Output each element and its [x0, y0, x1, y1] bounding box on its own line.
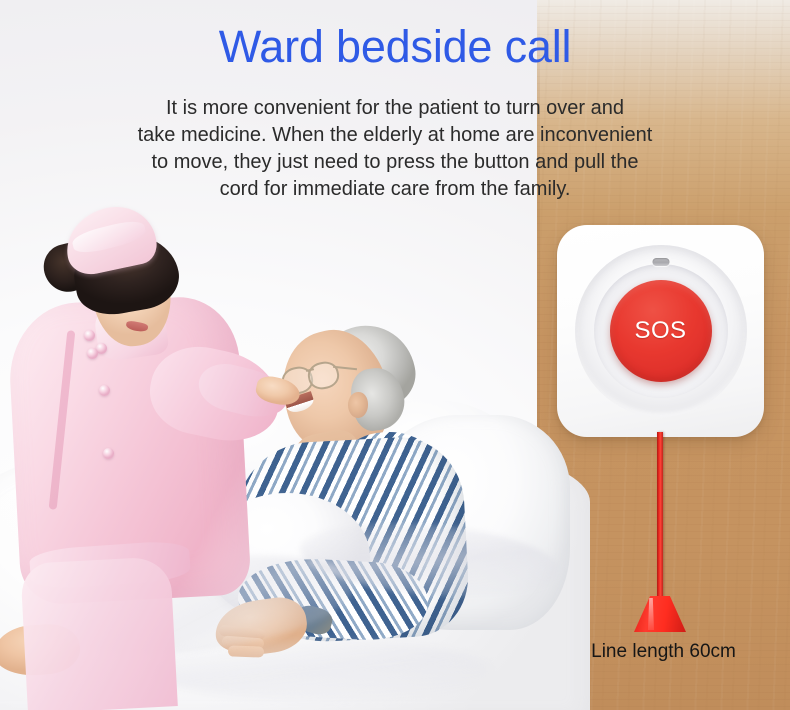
- nurse-uniform-button: [84, 330, 95, 341]
- sos-call-device[interactable]: SOS: [557, 225, 764, 437]
- description-line: cord for immediate care from the family.: [48, 176, 742, 203]
- nurse-uniform-button: [87, 348, 98, 359]
- patient-ear: [348, 392, 368, 418]
- promo-banner: Ward bedside call It is more convenient …: [0, 0, 790, 710]
- sos-button-label: SOS: [635, 319, 687, 343]
- sheet-fold: [150, 640, 490, 700]
- description-text: It is more convenient for the patient to…: [48, 95, 742, 203]
- cord-length-caption: Line length 60cm: [537, 642, 790, 661]
- pull-cord[interactable]: [657, 432, 663, 601]
- nurse-skirt: [20, 556, 178, 710]
- sos-button[interactable]: SOS: [610, 280, 712, 382]
- page-title: Ward bedside call: [0, 24, 790, 69]
- description-line: to move, they just need to press the but…: [48, 149, 742, 176]
- description-line: take medicine. When the elderly at home …: [48, 122, 742, 149]
- status-led-icon: [652, 258, 669, 266]
- nurse-uniform-button: [103, 448, 114, 459]
- description-line: It is more convenient for the patient to…: [48, 95, 742, 122]
- nurse-uniform-button: [99, 385, 110, 396]
